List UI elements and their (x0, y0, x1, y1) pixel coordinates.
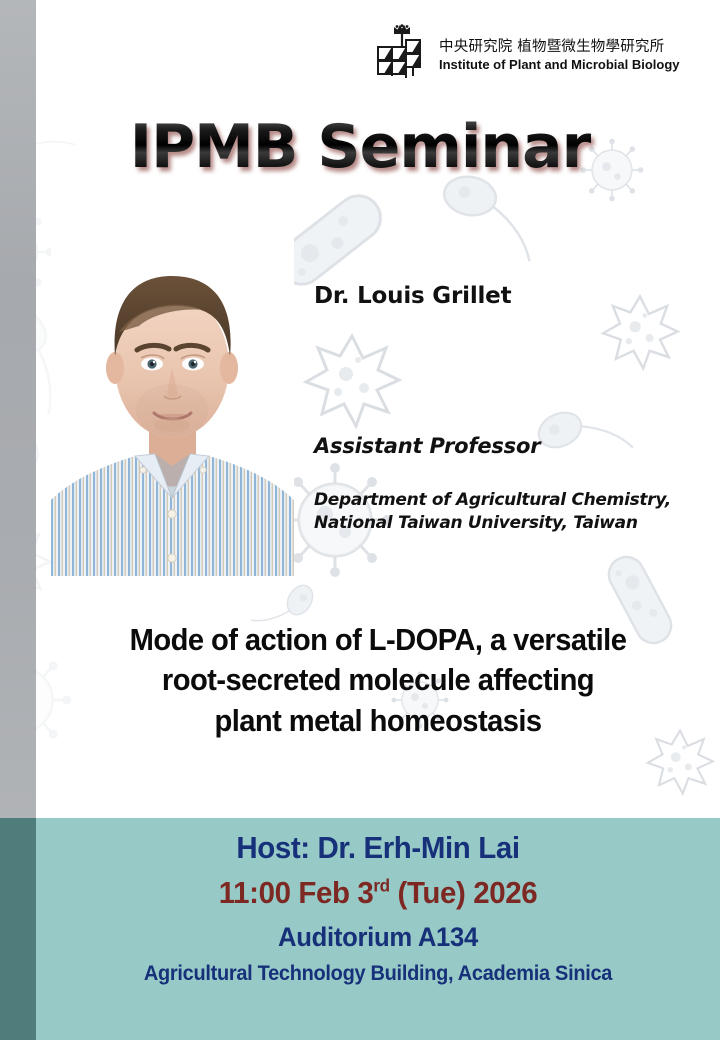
speaker-affiliation-line-1: Department of Agricultural Chemistry, (314, 489, 714, 512)
talk-title-line-1: Mode of action of L-DOPA, a versatile (57, 620, 700, 660)
poster-title: IPMB Seminar (0, 116, 720, 179)
seminar-poster: 中央研究院 植物暨微生物學研究所 Institute of Plant and … (0, 0, 720, 1040)
building-line: Agricultural Technology Building, Academ… (53, 962, 703, 986)
institute-name-chinese: 中央研究院 植物暨微生物學研究所 (439, 39, 680, 56)
speaker-affiliation-line-2: National Taiwan University, Taiwan (314, 512, 714, 535)
host-line: Host: Dr. Erh-Min Lai (53, 830, 703, 866)
talk-title-line-3: plant metal homeostasis (57, 701, 700, 741)
venue-line: Auditorium A134 (53, 922, 703, 953)
date-ordinal-suffix: rd (373, 876, 389, 896)
speaker-photo (51, 228, 294, 576)
date-time-text: 11:00 Feb 3 (219, 875, 374, 910)
talk-title: Mode of action of L-DOPA, a versatile ro… (57, 620, 700, 741)
left-teal-band (0, 818, 36, 1040)
speaker-affiliation: Department of Agricultural Chemistry, Na… (314, 489, 714, 535)
event-details-footer: Host: Dr. Erh-Min Lai 11:00 Feb 3rd (Tue… (36, 818, 720, 1040)
institute-header: 中央研究院 植物暨微生物學研究所 Institute of Plant and … (374, 22, 704, 84)
date-weekday-year: (Tue) 2026 (390, 875, 537, 910)
talk-title-line-2: root-secreted molecule affecting (57, 660, 700, 700)
speaker-name: Dr. Louis Grillet (314, 283, 511, 309)
speaker-rank: Assistant Professor (314, 434, 540, 458)
date-time-line: 11:00 Feb 3rd (Tue) 2026 (53, 875, 703, 911)
ipmb-academia-sinica-logo-icon (374, 24, 430, 82)
institute-name-english: Institute of Plant and Microbial Biology (439, 58, 680, 73)
speaker-portrait-image (51, 228, 294, 576)
